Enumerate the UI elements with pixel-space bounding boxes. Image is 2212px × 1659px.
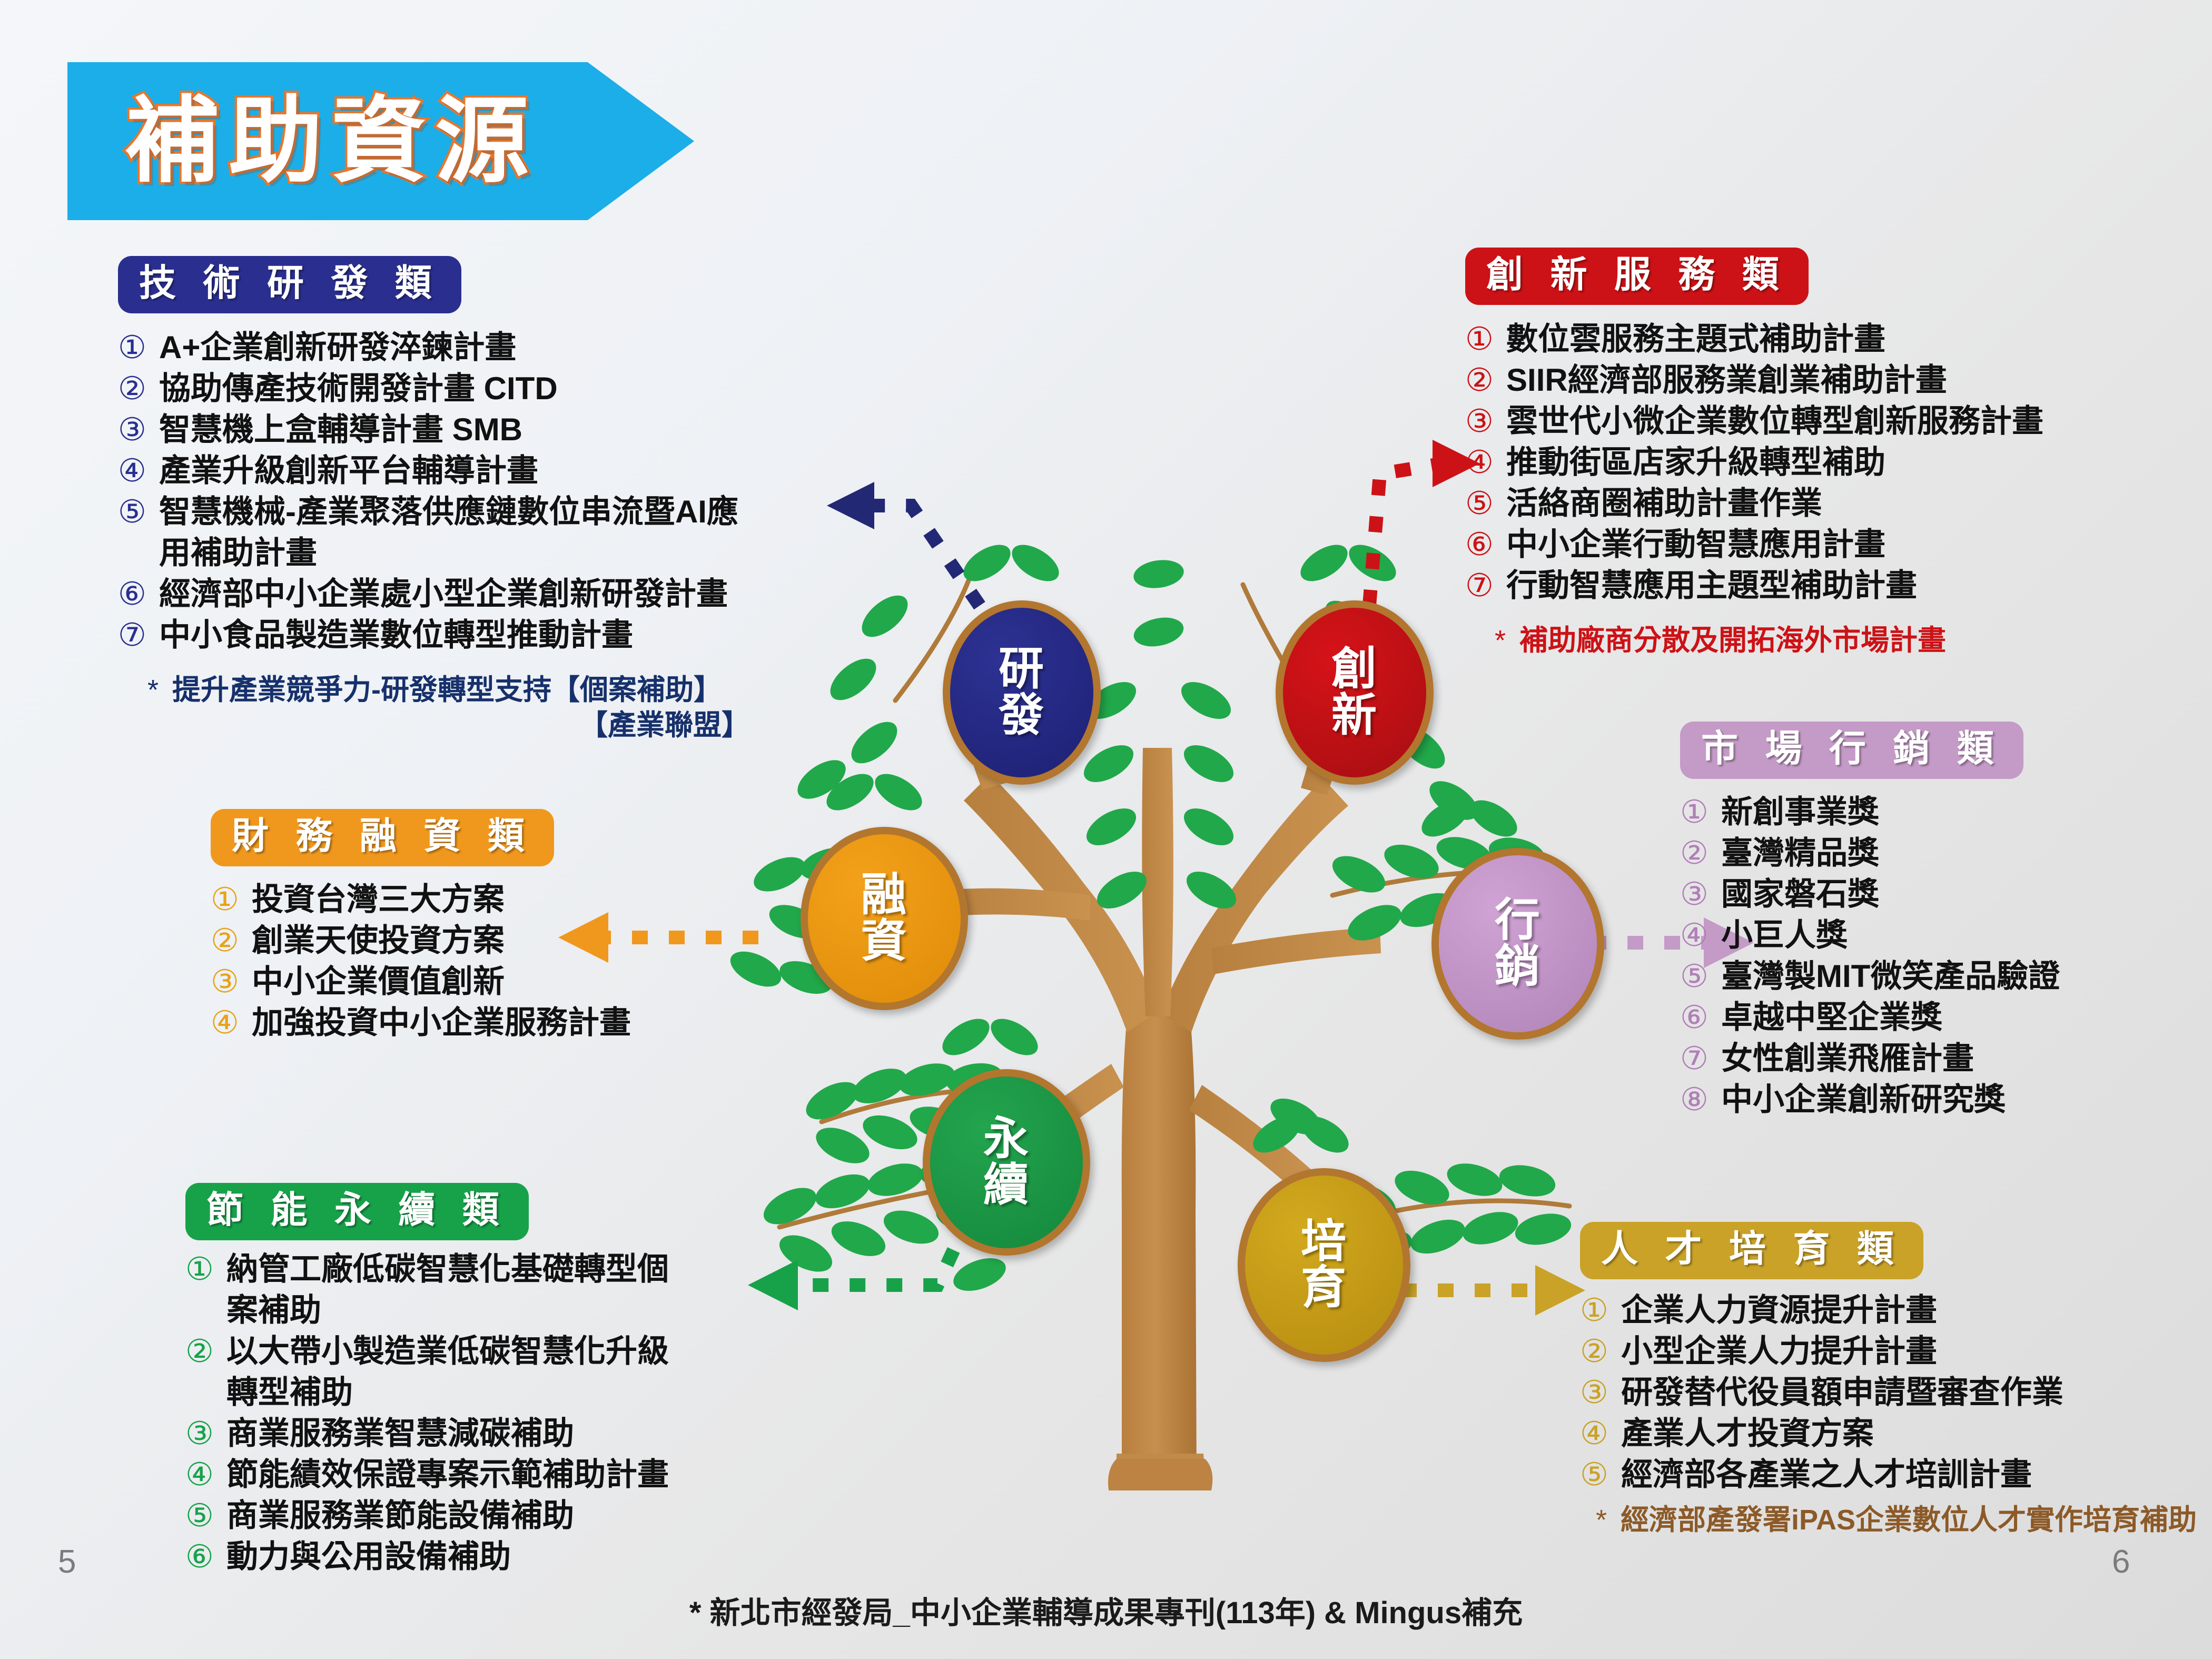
list-item-number: ③	[1680, 874, 1715, 915]
list-item-number: ③	[118, 409, 153, 450]
list-item-number: ④	[185, 1454, 220, 1495]
list-item-continuation: 轉型補助	[185, 1372, 669, 1413]
list-item-number: ⑤	[1580, 1454, 1615, 1495]
list-item-label: 納管工廠低碳智慧化基礎轉型個	[226, 1249, 669, 1290]
list-item-number: ②	[1680, 833, 1715, 874]
list-item-label: 商業服務業節能設備補助	[226, 1495, 574, 1536]
list-item-number: ③	[1465, 401, 1500, 442]
list-item: ⑦行動智慧應用主題型補助計畫	[1465, 565, 2043, 606]
list-item: ①新創事業獎	[1680, 792, 2060, 833]
list-item-label: 中小企業行動智慧應用計畫	[1506, 524, 1885, 565]
list-item-label: 女性創業飛雁計畫	[1721, 1038, 1974, 1079]
page-title: 補助資源	[125, 94, 538, 188]
list-item: ⑥動力與公用設備補助	[185, 1536, 669, 1577]
list-item: ③商業服務業智慧減碳補助	[185, 1413, 669, 1454]
list-item: ④產業人才投資方案	[1580, 1413, 2197, 1454]
list-item-label: 行動智慧應用主題型補助計畫	[1506, 565, 1917, 606]
list-item-label: 經濟部中小企業處小型企業創新研發計畫	[159, 574, 728, 615]
category-header-innovation: 創 新 服 務 類	[1465, 248, 1809, 305]
list-item-label: 協助傳產技術開發計畫 CITD	[159, 368, 558, 409]
category-header-tech: 技 術 研 發 類	[118, 256, 461, 313]
list-item-label: 商業服務業智慧減碳補助	[226, 1413, 574, 1454]
list-item-label: 經濟部各產業之人才培訓計畫	[1621, 1454, 2032, 1495]
list-item-number: ②	[1465, 360, 1500, 401]
category-header-sustainability: 節 能 永 續 類	[185, 1183, 529, 1240]
list-item-label: SIIR經濟部服務業創業補助計畫	[1506, 360, 1947, 401]
list-item: ③雲世代小微企業數位轉型創新服務計畫	[1465, 401, 2043, 442]
list-item: ⑤商業服務業節能設備補助	[185, 1495, 669, 1536]
category-header-marketing: 市 場 行 銷 類	[1680, 722, 2023, 779]
list-item: ④推動街區店家升級轉型補助	[1465, 442, 2043, 483]
list-item: ①A+企業創新研發淬鍊計畫	[118, 327, 750, 368]
list-item-label: 中小企業價值創新	[252, 961, 505, 1002]
list-item-number: ⑤	[118, 491, 153, 532]
list-item-number: ⑦	[1680, 1038, 1715, 1079]
tree-node-rd-char1: 研	[999, 646, 1045, 693]
list-item: ⑧中小企業創新研究獎	[1680, 1079, 2060, 1120]
list-item-number: ⑦	[118, 615, 153, 656]
list-item-label: 活絡商圈補助計畫作業	[1506, 483, 1822, 524]
list-item-number: ①	[1465, 319, 1500, 360]
list-item-number: ⑤	[1465, 483, 1500, 524]
list-item: ①投資台灣三大方案	[211, 879, 631, 920]
list-item-number: ⑤	[1680, 956, 1715, 997]
tree-node-finance[interactable]: 融 資	[801, 827, 968, 1010]
list-item: ①企業人力資源提升計畫	[1580, 1290, 2197, 1331]
category-header-talent: 人 才 培 育 類	[1580, 1222, 1923, 1279]
list-item-label: 卓越中堅企業獎	[1721, 997, 1942, 1038]
list-item-number: ③	[211, 961, 245, 1002]
list-item-number: ②	[185, 1331, 220, 1372]
list-item: ④產業升級創新平台輔導計畫	[118, 450, 750, 491]
tree-node-marketing[interactable]: 行 銷	[1431, 848, 1604, 1040]
panel-sustainability: 節 能 永 續 類 ①納管工廠低碳智慧化基礎轉型個 案補助 ②以大帶小製造業低碳…	[185, 1183, 669, 1577]
list-item-number: ①	[1680, 792, 1715, 833]
list-item-number: ⑤	[185, 1495, 220, 1536]
page-number-right: 6	[2112, 1543, 2130, 1581]
list-item-number: ①	[118, 327, 153, 368]
list-item-number: ④	[1465, 442, 1500, 483]
list-item-label: 雲世代小微企業數位轉型創新服務計畫	[1506, 401, 2043, 442]
list-item-label: 節能績效保證專案示範補助計畫	[226, 1454, 669, 1495]
talent-note-star: *	[1596, 1503, 1607, 1538]
list-item: ④加強投資中小企業服務計畫	[211, 1002, 631, 1043]
list-item-label: 投資台灣三大方案	[252, 879, 505, 920]
list-item-number: ②	[118, 368, 153, 409]
tree-node-talent-char2: 育	[1301, 1265, 1347, 1311]
list-item-number: ④	[118, 450, 153, 491]
list-item-label: 臺灣製MIT微笑產品驗證	[1721, 956, 2060, 997]
list-item: ①數位雲服務主題式補助計畫	[1465, 319, 2043, 360]
panel-finance: 財 務 融 資 類 ①投資台灣三大方案 ②創業天使投資方案 ③中小企業價值創新 …	[211, 809, 631, 1043]
tech-note-line2-wrap: 【產業聯盟】	[118, 708, 750, 744]
list-item-label: A+企業創新研發淬鍊計畫	[159, 327, 516, 368]
list-item: ②以大帶小製造業低碳智慧化升級	[185, 1331, 669, 1372]
tree-node-rd-char2: 發	[999, 693, 1045, 739]
tree-node-rd[interactable]: 研 發	[943, 600, 1101, 785]
list-item: ⑤智慧機械-產業聚落供應鏈數位串流暨AI應	[118, 491, 750, 532]
list-item-number: ①	[1580, 1290, 1615, 1331]
list-item-label: 小巨人獎	[1721, 915, 1848, 956]
footer-source-note: * 新北市經發局_中小企業輔導成果專刊(113年) & Mingus補充	[0, 1588, 2212, 1632]
list-item: ③國家磐石獎	[1680, 874, 2060, 915]
list-item-label: 創業天使投資方案	[252, 920, 505, 961]
list-item-number: ④	[1580, 1413, 1615, 1454]
tech-note: * 提升產業競爭力-研發轉型支持【個案補助】	[147, 673, 750, 708]
list-item-number: ③	[185, 1413, 220, 1454]
list-item: ⑦女性創業飛雁計畫	[1680, 1038, 2060, 1079]
list-item: ⑤活絡商圈補助計畫作業	[1465, 483, 2043, 524]
list-item-label: 研發替代役員額申請暨審查作業	[1621, 1372, 2063, 1413]
list-item-number: ⑧	[1680, 1079, 1715, 1120]
list-item: ④小巨人獎	[1680, 915, 2060, 956]
list-item: ②創業天使投資方案	[211, 920, 631, 961]
list-item-number: ⑥	[118, 574, 153, 615]
talent-note: * 經濟部產發署iPAS企業數位人才實作培育補助	[1596, 1503, 2197, 1538]
talent-note-line1: 經濟部產發署iPAS企業數位人才實作培育補助	[1621, 1503, 2197, 1538]
tech-note-line2: 【產業聯盟】	[579, 709, 750, 741]
panel-talent: 人 才 培 育 類 ①企業人力資源提升計畫 ②小型企業人力提升計畫 ③研發替代役…	[1580, 1222, 2197, 1538]
tree-node-talent[interactable]: 培 育	[1238, 1168, 1410, 1362]
category-header-finance: 財 務 融 資 類	[211, 809, 554, 866]
list-item-label: 產業人才投資方案	[1621, 1413, 1874, 1454]
innovation-note-line1: 補助廠商分散及開拓海外市場計畫	[1519, 623, 1946, 659]
list-item: ③智慧機上盒輔導計畫 SMB	[118, 409, 750, 450]
list-item-label: 新創事業獎	[1721, 792, 1879, 833]
list-item: ⑥經濟部中小企業處小型企業創新研發計畫	[118, 574, 750, 615]
list-item: ③研發替代役員額申請暨審查作業	[1580, 1372, 2197, 1413]
list-item-label: 國家磐石獎	[1721, 874, 1879, 915]
list-item-label: 智慧機械-產業聚落供應鏈數位串流暨AI應	[159, 491, 738, 532]
tree-node-marketing-char1: 行	[1495, 897, 1541, 944]
list-item-label: 臺灣精品獎	[1721, 833, 1879, 874]
tree-node-talent-char1: 培	[1301, 1219, 1347, 1265]
list-item-label: 推動街區店家升級轉型補助	[1506, 442, 1885, 483]
list-item-number: ②	[211, 920, 245, 961]
list-item-continuation: 案補助	[185, 1290, 669, 1331]
list-item-label: 企業人力資源提升計畫	[1621, 1290, 1937, 1331]
page-number-left: 5	[58, 1543, 76, 1581]
tree-node-sustainability-char2: 續	[983, 1162, 1030, 1209]
panel-tech-rd: 技 術 研 發 類 ①A+企業創新研發淬鍊計畫 ②協助傳產技術開發計畫 CITD…	[118, 256, 750, 744]
list-item: ①納管工廠低碳智慧化基礎轉型個	[185, 1249, 669, 1290]
list-item-number: ⑥	[1465, 524, 1500, 565]
tree-node-sustainability-char1: 永	[983, 1116, 1030, 1162]
list-item: ②小型企業人力提升計畫	[1580, 1331, 2197, 1372]
tree-node-innovation-char2: 新	[1331, 693, 1378, 739]
list-item-label: 小型企業人力提升計畫	[1621, 1331, 1937, 1372]
list-item-label: 加強投資中小企業服務計畫	[252, 1002, 631, 1043]
list-item-label: 動力與公用設備補助	[226, 1536, 511, 1577]
list-item-label: 數位雲服務主題式補助計畫	[1506, 319, 1885, 360]
panel-innovation: 創 新 服 務 類 ①數位雲服務主題式補助計畫 ②SIIR經濟部服務業創業補助計…	[1465, 248, 2043, 658]
list-item-number: ④	[211, 1002, 245, 1043]
panel-marketing: 市 場 行 銷 類 ①新創事業獎 ②臺灣精品獎 ③國家磐石獎 ④小巨人獎 ⑤臺灣…	[1680, 722, 2060, 1120]
list-item-label: 中小企業創新研究獎	[1721, 1079, 2006, 1120]
list-item: ②臺灣精品獎	[1680, 833, 2060, 874]
innovation-note-star: *	[1495, 623, 1506, 659]
tech-note-star: *	[147, 673, 159, 708]
list-item-number: ④	[1680, 915, 1715, 956]
list-item-label: 以大帶小製造業低碳智慧化升級	[226, 1331, 669, 1372]
tree-node-innovation[interactable]: 創 新	[1276, 600, 1434, 785]
list-item: ⑤臺灣製MIT微笑產品驗證	[1680, 956, 2060, 997]
title-banner: 補助資源	[67, 62, 694, 220]
tree-node-finance-char2: 資	[861, 919, 907, 965]
list-item-number: ③	[1580, 1372, 1615, 1413]
tree-node-innovation-char1: 創	[1331, 646, 1378, 693]
list-item-continuation: 用補助計畫	[118, 532, 750, 574]
list-item: ⑤經濟部各產業之人才培訓計畫	[1580, 1454, 2197, 1495]
list-item-number: ⑦	[1465, 565, 1500, 606]
list-item-number: ①	[185, 1249, 220, 1290]
list-item-label: 產業升級創新平台輔導計畫	[159, 450, 538, 491]
innovation-note: * 補助廠商分散及開拓海外市場計畫	[1495, 623, 2043, 659]
tree-node-sustainability[interactable]: 永 續	[923, 1069, 1090, 1256]
list-item: ②SIIR經濟部服務業創業補助計畫	[1465, 360, 2043, 401]
tree-node-finance-char1: 融	[861, 872, 907, 919]
list-item: ②協助傳產技術開發計畫 CITD	[118, 368, 750, 409]
list-item: ⑥卓越中堅企業獎	[1680, 997, 2060, 1038]
list-item-label: 智慧機上盒輔導計畫 SMB	[159, 409, 522, 450]
list-item: ⑦中小食品製造業數位轉型推動計畫	[118, 615, 750, 656]
tree-node-marketing-char2: 銷	[1495, 944, 1541, 990]
tech-note-line1: 提升產業競爭力-研發轉型支持【個案補助】	[172, 673, 722, 708]
list-item-number: ②	[1580, 1331, 1615, 1372]
list-item: ⑥中小企業行動智慧應用計畫	[1465, 524, 2043, 565]
list-item-label: 中小食品製造業數位轉型推動計畫	[159, 615, 633, 656]
list-item-number: ①	[211, 879, 245, 920]
list-item-number: ⑥	[185, 1536, 220, 1577]
list-item-number: ⑥	[1680, 997, 1715, 1038]
list-item: ③中小企業價值創新	[211, 961, 631, 1002]
list-item: ④節能績效保證專案示範補助計畫	[185, 1454, 669, 1495]
